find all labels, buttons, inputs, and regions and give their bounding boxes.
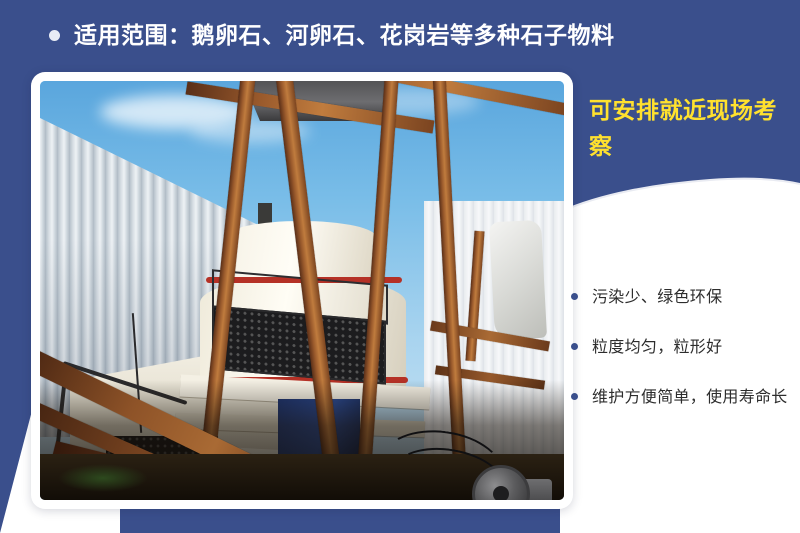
- dot-icon: [571, 293, 578, 300]
- dot-icon: [571, 393, 578, 400]
- photo-card: [31, 72, 573, 509]
- feature-list: 污染少、绿色环保 粒度均匀，粒形好 维护方便简单，使用寿命长: [571, 285, 796, 435]
- list-item-label: 粒度均匀，粒形好: [592, 335, 722, 360]
- site-photo: [40, 81, 564, 500]
- dot-icon: [49, 30, 60, 41]
- grass-patch: [58, 464, 148, 492]
- list-item: 污染少、绿色环保: [571, 285, 796, 310]
- banner-stage: 适用范围：鹅卵石、河卵石、花岗岩等多种石子物料: [0, 0, 800, 533]
- list-item-label: 维护方便简单，使用寿命长: [592, 385, 788, 410]
- banner-header: 适用范围：鹅卵石、河卵石、花岗岩等多种石子物料: [0, 0, 800, 70]
- white-tarp-cover: [489, 220, 547, 341]
- list-item: 粒度均匀，粒形好: [571, 335, 796, 360]
- headline-text: 可安排就近现场考察: [589, 92, 789, 164]
- dot-icon: [571, 343, 578, 350]
- header-title: 适用范围：鹅卵石、河卵石、花岗岩等多种石子物料: [74, 24, 615, 47]
- list-item-label: 污染少、绿色环保: [592, 285, 722, 310]
- list-item: 维护方便简单，使用寿命长: [571, 385, 796, 410]
